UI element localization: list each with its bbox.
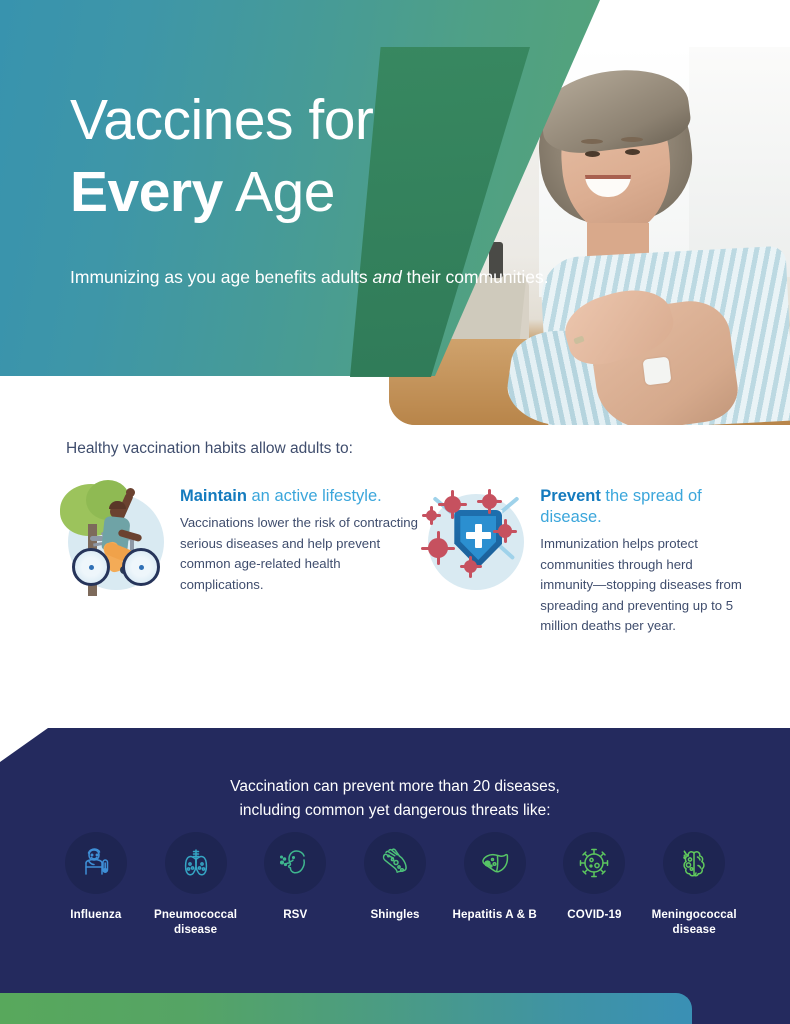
bike-wheel-rear: [72, 548, 110, 586]
cyclist-raised-hand: [126, 488, 135, 497]
disease-item-influenza: Influenza: [46, 832, 146, 922]
hero-title-rest: Age: [223, 160, 335, 224]
photo-eyebrow-right: [621, 137, 643, 142]
disease-label: Hepatitis A & B: [453, 907, 537, 922]
benefit-card-active-lifestyle: Maintain an active lifestyle. Vaccinatio…: [60, 480, 420, 637]
hero-subtitle-part-2: their communities.: [402, 267, 549, 287]
disease-label: Influenza: [70, 907, 121, 922]
bike-hub-front: [139, 565, 144, 570]
coughing-person-icon: [264, 832, 326, 894]
disease-label: RSV: [283, 907, 307, 922]
benefit-card-prevent-spread: Prevent the spread of disease. Immunizat…: [420, 480, 742, 637]
photo-eye-right: [625, 149, 640, 155]
hero-title-emphasis: Every: [70, 160, 223, 224]
disease-label: Meningococcal disease: [644, 907, 744, 937]
disease-item-hepatitis: Hepatitis A & B: [445, 832, 545, 922]
benefit-card-heading-bold: Prevent: [540, 487, 601, 505]
footer-gradient-bar: [0, 993, 692, 1024]
disease-item-rsv: RSV: [245, 832, 345, 922]
disease-item-shingles: Shingles: [345, 832, 445, 922]
disease-item-pneumococcal: Pneumococcal disease: [146, 832, 246, 937]
medical-cross-icon-horizontal: [466, 532, 491, 539]
photo-eyebrow-left: [581, 139, 603, 144]
bandage-icon: [643, 357, 672, 386]
benefit-card-body: Prevent the spread of disease. Immunizat…: [540, 480, 742, 637]
hand-rash-icon: [364, 832, 426, 894]
benefits-lead-text: Healthy vaccination habits allow adults …: [66, 440, 790, 458]
disease-item-meningococcal: Meningococcal disease: [644, 832, 744, 937]
benefit-card-heading-rest: an active lifestyle.: [247, 487, 382, 505]
diseases-panel-corner: [48, 728, 94, 774]
liver-icon: [464, 832, 526, 894]
bike-hub-rear: [89, 565, 94, 570]
lungs-icon: [165, 832, 227, 894]
hero-title-line-2: Every Age: [70, 156, 549, 228]
benefit-card-heading-bold: Maintain: [180, 487, 247, 505]
benefit-card-paragraph: Immunization helps protect communities t…: [540, 534, 742, 637]
shield-virus-illustration-icon: [420, 480, 530, 595]
benefit-cards: Maintain an active lifestyle. Vaccinatio…: [0, 480, 790, 637]
photo-window-secondary: [689, 47, 790, 277]
disease-label: Pneumococcal disease: [146, 907, 246, 937]
hero-subtitle: Immunizing as you age benefits adults an…: [70, 264, 549, 291]
hero-subtitle-part-1: Immunizing as you age benefits adults: [70, 267, 373, 287]
hero-title-line-1: Vaccines for: [70, 84, 549, 156]
diseases-panel-headline: Vaccination can prevent more than 20 dis…: [0, 775, 790, 823]
benefit-card-body: Maintain an active lifestyle. Vaccinatio…: [180, 480, 420, 637]
benefit-card-heading: Prevent the spread of disease.: [540, 486, 742, 528]
sick-person-thermometer-icon: [65, 832, 127, 894]
bike-wheel-front: [122, 548, 160, 586]
coronavirus-icon: [563, 832, 625, 894]
hero-subtitle-italic: and: [373, 267, 402, 287]
photo-eye-left: [585, 151, 600, 157]
hero-text-block: Vaccines for Every Age Immunizing as you…: [70, 84, 549, 291]
disease-icon-row: Influenza Pneumococcal disease: [0, 832, 790, 937]
benefit-card-heading: Maintain an active lifestyle.: [180, 486, 420, 507]
benefit-card-paragraph: Vaccinations lower the risk of contracti…: [180, 513, 420, 595]
brain-icon: [663, 832, 725, 894]
diseases-headline-line-2: including common yet dangerous threats l…: [0, 799, 790, 823]
hero-section: Vaccines for Every Age Immunizing as you…: [0, 0, 790, 430]
diseases-headline-line-1: Vaccination can prevent more than 20 dis…: [0, 775, 790, 799]
disease-label: COVID-19: [567, 907, 621, 922]
cyclist-illustration-icon: [60, 480, 170, 595]
disease-label: Shingles: [370, 907, 419, 922]
disease-item-covid19: COVID-19: [545, 832, 645, 922]
cyclist-cap-icon: [109, 501, 126, 509]
benefits-section: Healthy vaccination habits allow adults …: [0, 440, 790, 637]
